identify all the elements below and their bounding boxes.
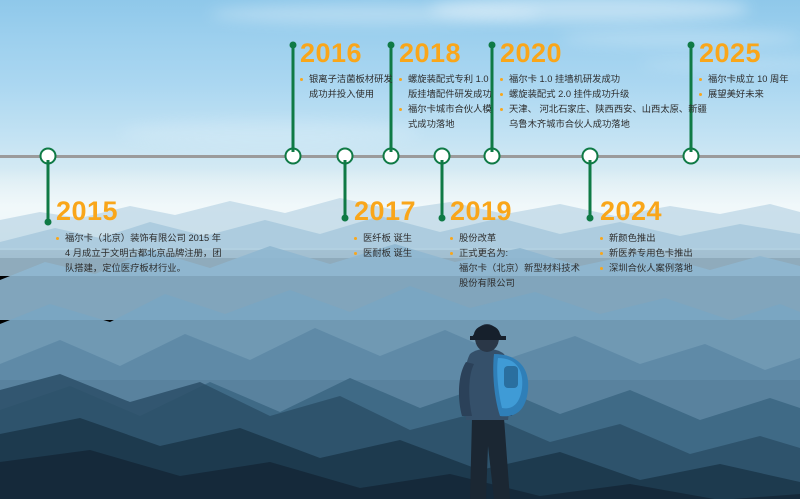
- bullet-item: 正式更名为:: [450, 246, 580, 261]
- bullet-item-continuation: 福尔卡（北京）新型材料技术: [450, 261, 580, 276]
- timeline-entry-2015: 2015 福尔卡（北京）装饰有限公司 2015 年 4 月成立于文明古都北京品牌…: [56, 198, 222, 276]
- node-stem: [441, 160, 444, 218]
- entry-year-label: 2018: [399, 40, 492, 67]
- entry-bullet-list: 螺旋装配式专利 1.0 版挂墙配件研发成功 福尔卡城市合伙人模 式成功落地: [399, 72, 492, 132]
- bullet-item: 福尔卡（北京）装饰有限公司 2015 年: [56, 231, 222, 246]
- node-endpoint: [439, 215, 446, 222]
- node-stem: [589, 160, 592, 218]
- entry-year-label: 2020: [500, 40, 707, 67]
- entry-year-label: 2017: [354, 198, 416, 225]
- bullet-item-continuation: 股份有限公司: [450, 276, 580, 291]
- node-endpoint: [45, 219, 52, 226]
- entry-year-label: 2016: [300, 40, 393, 67]
- bullet-item-continuation: 4 月成立于文明古都北京品牌注册，团: [56, 246, 222, 261]
- bullet-item: 展望美好未来: [699, 87, 789, 102]
- bullet-item-continuation: 版挂墙配件研发成功: [399, 87, 492, 102]
- entry-bullet-list: 福尔卡成立 10 周年 展望美好未来: [699, 72, 789, 102]
- bullet-item: 股份改革: [450, 231, 580, 246]
- timeline-infographic: 2016 银离子洁菌板材研发 成功并投入使用 2018 螺旋装配式专利 1.0 …: [0, 0, 800, 499]
- bullet-item: 螺旋装配式 2.0 挂件成功升级: [500, 87, 707, 102]
- bullet-item: 新颜色推出: [600, 231, 693, 246]
- node-endpoint: [342, 215, 349, 222]
- entry-year-label: 2024: [600, 198, 693, 225]
- entry-bullet-list: 股份改革 正式更名为: 福尔卡（北京）新型材料技术 股份有限公司: [450, 231, 580, 291]
- bullet-item: 福尔卡城市合伙人模: [399, 102, 492, 117]
- bullet-item-continuation: 成功并投入使用: [300, 87, 393, 102]
- timeline-entry-2017: 2017 医纤板 诞生 医耐板 诞生: [354, 198, 416, 261]
- bullet-item: 医耐板 诞生: [354, 246, 416, 261]
- entry-year-label: 2015: [56, 198, 222, 225]
- timeline-entry-2018: 2018 螺旋装配式专利 1.0 版挂墙配件研发成功 福尔卡城市合伙人模 式成功…: [399, 40, 492, 132]
- node-stem: [292, 44, 295, 152]
- bullet-item: 银离子洁菌板材研发: [300, 72, 393, 87]
- bullet-item: 深圳合伙人案例落地: [600, 261, 693, 276]
- node-stem: [344, 160, 347, 218]
- entry-bullet-list: 银离子洁菌板材研发 成功并投入使用: [300, 72, 393, 102]
- bullet-item: 新医养专用色卡推出: [600, 246, 693, 261]
- timeline-axis: [0, 155, 800, 158]
- timeline-entry-2019: 2019 股份改革 正式更名为: 福尔卡（北京）新型材料技术 股份有限公司: [450, 198, 580, 291]
- hiker-figure: [432, 306, 544, 499]
- bullet-item: 天津、 河北石家庄、陕西西安、山西太原、新疆: [500, 102, 707, 117]
- bullet-item-continuation: 式成功落地: [399, 117, 492, 132]
- entry-bullet-list: 医纤板 诞生 医耐板 诞生: [354, 231, 416, 261]
- node-stem: [47, 160, 50, 222]
- timeline-entry-2020: 2020 福尔卡 1.0 挂墙机研发成功 螺旋装配式 2.0 挂件成功升级 天津…: [500, 40, 707, 132]
- entry-year-label: 2025: [699, 40, 789, 67]
- entry-year-label: 2019: [450, 198, 580, 225]
- bullet-item: 医纤板 诞生: [354, 231, 416, 246]
- entry-bullet-list: 福尔卡（北京）装饰有限公司 2015 年 4 月成立于文明古都北京品牌注册，团 …: [56, 231, 222, 276]
- entry-bullet-list: 新颜色推出 新医养专用色卡推出 深圳合伙人案例落地: [600, 231, 693, 276]
- bullet-item: 福尔卡 1.0 挂墙机研发成功: [500, 72, 707, 87]
- node-endpoint: [587, 215, 594, 222]
- timeline-entry-2025: 2025 福尔卡成立 10 周年 展望美好未来: [699, 40, 789, 102]
- timeline-entry-2016: 2016 银离子洁菌板材研发 成功并投入使用: [300, 40, 393, 102]
- bullet-item: 螺旋装配式专利 1.0: [399, 72, 492, 87]
- foreground-slope: [0, 330, 800, 499]
- timeline-entry-2024: 2024 新颜色推出 新医养专用色卡推出 深圳合伙人案例落地: [600, 198, 693, 276]
- bullet-item-continuation: 乌鲁木齐城市合伙人成功落地: [500, 117, 707, 132]
- bullet-item-continuation: 队搭建，定位医疗板材行业。: [56, 261, 222, 276]
- entry-bullet-list: 福尔卡 1.0 挂墙机研发成功 螺旋装配式 2.0 挂件成功升级 天津、 河北石…: [500, 72, 707, 132]
- cloud-wisp: [120, 120, 420, 146]
- node-endpoint: [290, 42, 297, 49]
- bullet-item: 福尔卡成立 10 周年: [699, 72, 789, 87]
